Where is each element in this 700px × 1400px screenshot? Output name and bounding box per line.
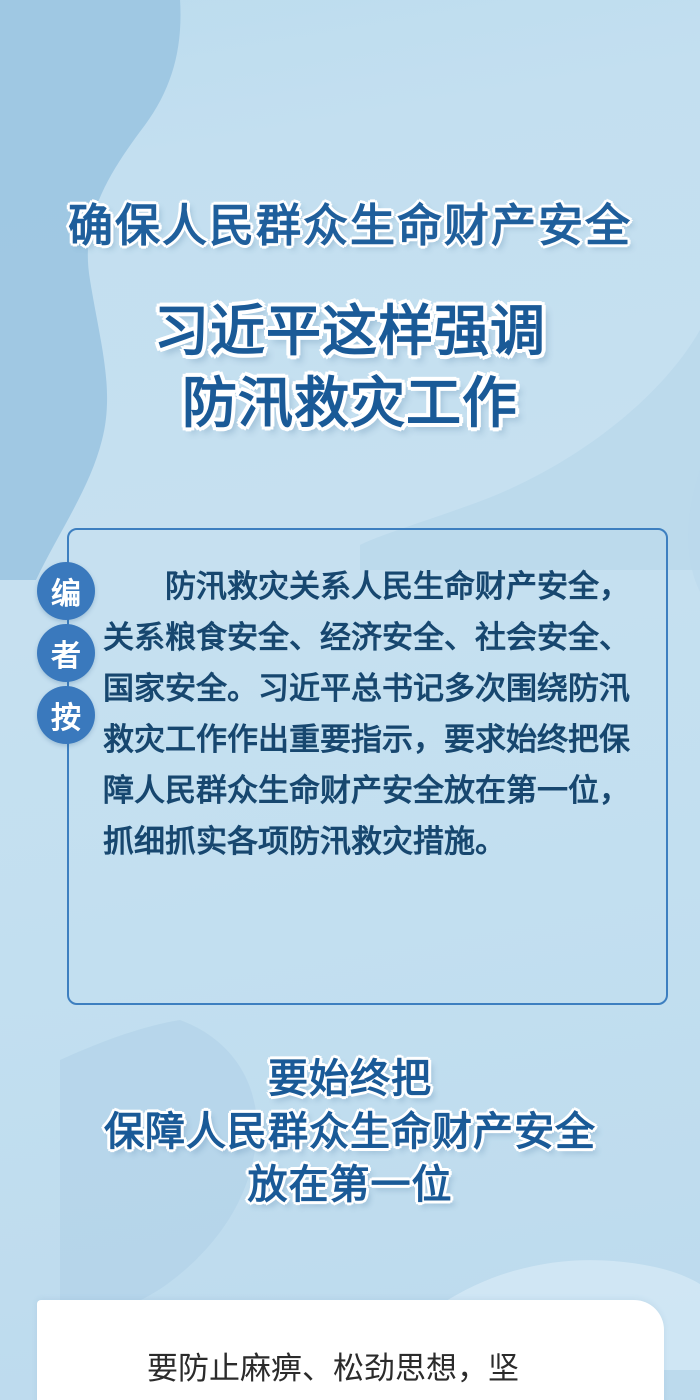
editorial-badge-group: 编 者 按: [37, 562, 99, 744]
content-card-paragraph: 要防止麻痹、松劲思想，坚: [85, 1344, 625, 1394]
section-heading-line-3: 放在第一位: [0, 1159, 700, 1212]
section-heading-line-2: 保障人民群众生命财产安全: [0, 1106, 700, 1159]
editorial-note-text: 防汛救灾关系人民生命财产安全，关系粮食安全、经济安全、社会安全、国家安全。习近平…: [103, 562, 648, 868]
content-card: 要防止麻痹、松劲思想，坚: [37, 1300, 664, 1400]
headline-kicker: 确保人民群众生命财产安全: [0, 196, 700, 256]
headline-line-2: 防汛救灾工作: [0, 368, 700, 438]
section-heading-block: 要始终把 保障人民群众生命财产安全 放在第一位: [0, 1053, 700, 1212]
section-heading-line-1: 要始终把: [0, 1053, 700, 1106]
editorial-badge-2: 者: [37, 624, 95, 682]
headline-block: 确保人民群众生命财产安全 习近平这样强调 防汛救灾工作: [0, 196, 700, 438]
poster-root: 确保人民群众生命财产安全 习近平这样强调 防汛救灾工作 编 者 按 防汛救灾关系…: [0, 0, 700, 1400]
editorial-badge-1: 编: [37, 562, 95, 620]
headline-line-1: 习近平这样强调: [0, 296, 700, 366]
editorial-badge-3: 按: [37, 686, 95, 744]
